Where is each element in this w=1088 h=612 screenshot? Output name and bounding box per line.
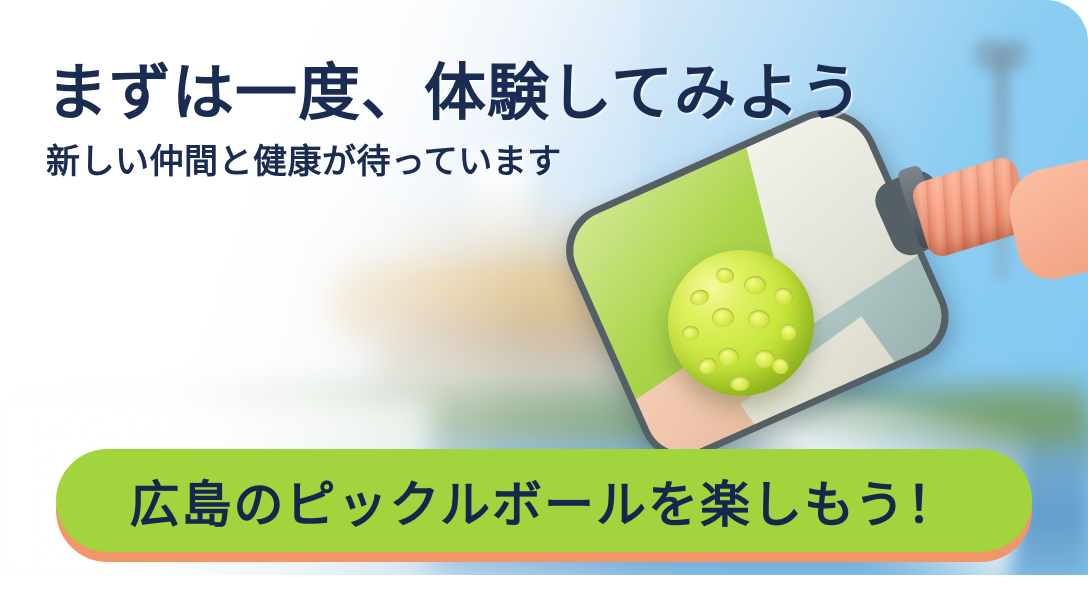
ball-hole	[715, 267, 735, 285]
cta-container: 広島のピックルボールを楽しもう！	[56, 449, 1032, 552]
ball-hole	[778, 322, 800, 344]
ball-hole	[744, 276, 766, 294]
pickleball-ball	[668, 250, 814, 396]
ball-hole	[730, 376, 750, 391]
ball-hole	[748, 310, 770, 329]
promo-banner: まずは一度、体験してみよう 新しい仲間と健康が待っています 広島のピックルボール…	[0, 0, 1088, 612]
ball-hole	[688, 287, 711, 307]
cta-button[interactable]: 広島のピックルボールを楽しもう！	[56, 449, 1032, 552]
cta-button-label: 広島のピックルボールを楽しもう！	[130, 465, 959, 537]
ball-hole	[772, 286, 795, 308]
ball-hole	[681, 324, 701, 341]
subheadline: 新しい仲間と健康が待っています	[46, 134, 562, 183]
ball-hole	[696, 355, 720, 377]
ball-hole	[712, 308, 734, 327]
ball-hole	[718, 348, 739, 366]
headline: まずは一度、体験してみよう	[46, 42, 863, 132]
